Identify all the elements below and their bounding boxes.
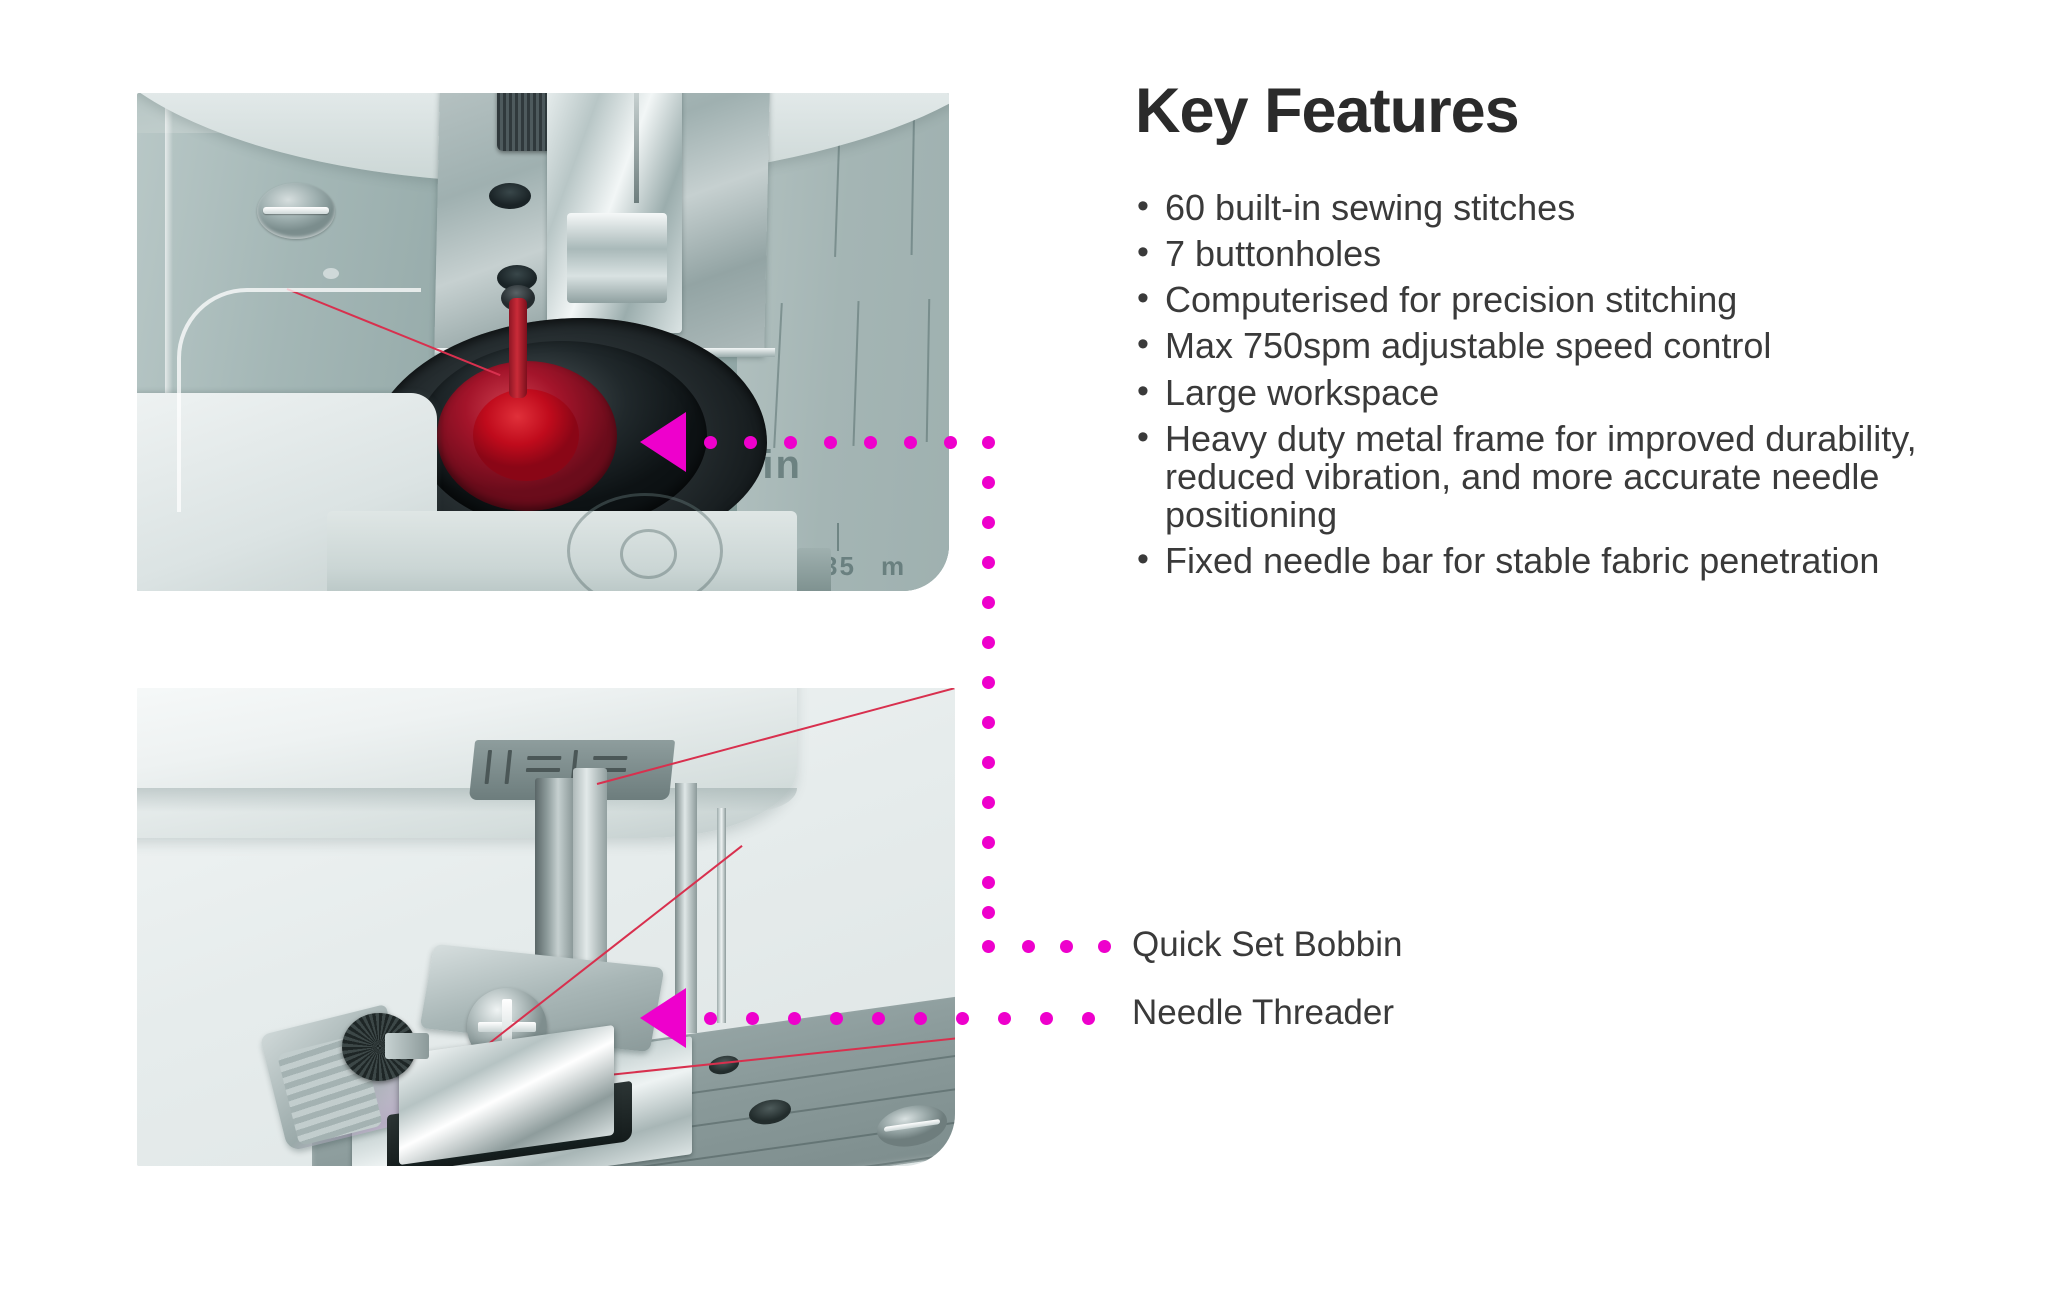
needle-bar [675, 783, 697, 1033]
machine-arm [137, 688, 797, 838]
callout-label-quick-set-bobbin: Quick Set Bobbin [1132, 925, 1402, 965]
feature-item: Heavy duty metal frame for improved dura… [1135, 420, 1965, 534]
plate-pin [323, 268, 339, 279]
presser-foot-bar [567, 213, 667, 303]
callout-dot [982, 596, 995, 609]
page-title: Key Features [1135, 80, 1965, 143]
callout-dot [982, 796, 995, 809]
slide-canvas: 1 in 30 35 m [0, 0, 2048, 1298]
feature-item: Max 750spm adjustable speed control [1135, 327, 1965, 365]
callout-dot [998, 1012, 1011, 1025]
callout-dot [982, 436, 995, 449]
slide-cover-plate [327, 511, 797, 591]
body-screw-left [257, 183, 335, 239]
callout-dot [982, 636, 995, 649]
callout-dot [982, 876, 995, 889]
callout-dot [982, 836, 995, 849]
callout-dot [1060, 940, 1073, 953]
arm-shadow [137, 788, 797, 812]
callout-label-needle-threader: Needle Threader [1132, 993, 1394, 1033]
cover-slide-button [797, 548, 831, 591]
feature-item: Fixed needle bar for stable fabric penet… [1135, 542, 1965, 580]
plate-hole [489, 183, 531, 209]
callout-dot [1098, 940, 1111, 953]
photo-needle-threader [137, 688, 955, 1166]
ruler-mm-unit: m [881, 551, 906, 582]
feature-item: Large workspace [1135, 374, 1965, 412]
needle-bar-shaft [573, 768, 607, 968]
needle [634, 93, 639, 203]
callout-dot [982, 756, 995, 769]
presser-bar [535, 778, 577, 968]
photo-bobbin-area: 1 in 30 35 m [137, 93, 949, 591]
callout-dot [982, 476, 995, 489]
callout-dot [956, 1012, 969, 1025]
bobbin-cover-lip [177, 288, 421, 512]
callout-dot [982, 676, 995, 689]
callout-dot [1022, 940, 1035, 953]
ruler-tick [837, 523, 839, 551]
callout-dot [982, 556, 995, 569]
feature-item: Computerised for precision stitching [1135, 281, 1965, 319]
features-panel: Key Features 60 built-in sewing stitches… [1135, 80, 1965, 588]
feature-item: 7 buttonholes [1135, 235, 1965, 273]
bobbin-core [473, 389, 579, 481]
needle-clamp-knob [342, 1013, 416, 1081]
needle-lower [717, 808, 726, 1023]
callout-dot [982, 516, 995, 529]
callout-dot [982, 940, 995, 953]
feature-item: 60 built-in sewing stitches [1135, 189, 1965, 227]
callout-dot [1082, 1012, 1095, 1025]
callout-dot [982, 716, 995, 729]
feature-list: 60 built-in sewing stitches7 buttonholes… [1135, 189, 1965, 580]
callout-dot [1040, 1012, 1053, 1025]
bobbin-pin [509, 298, 527, 398]
callout-dot [982, 906, 995, 919]
